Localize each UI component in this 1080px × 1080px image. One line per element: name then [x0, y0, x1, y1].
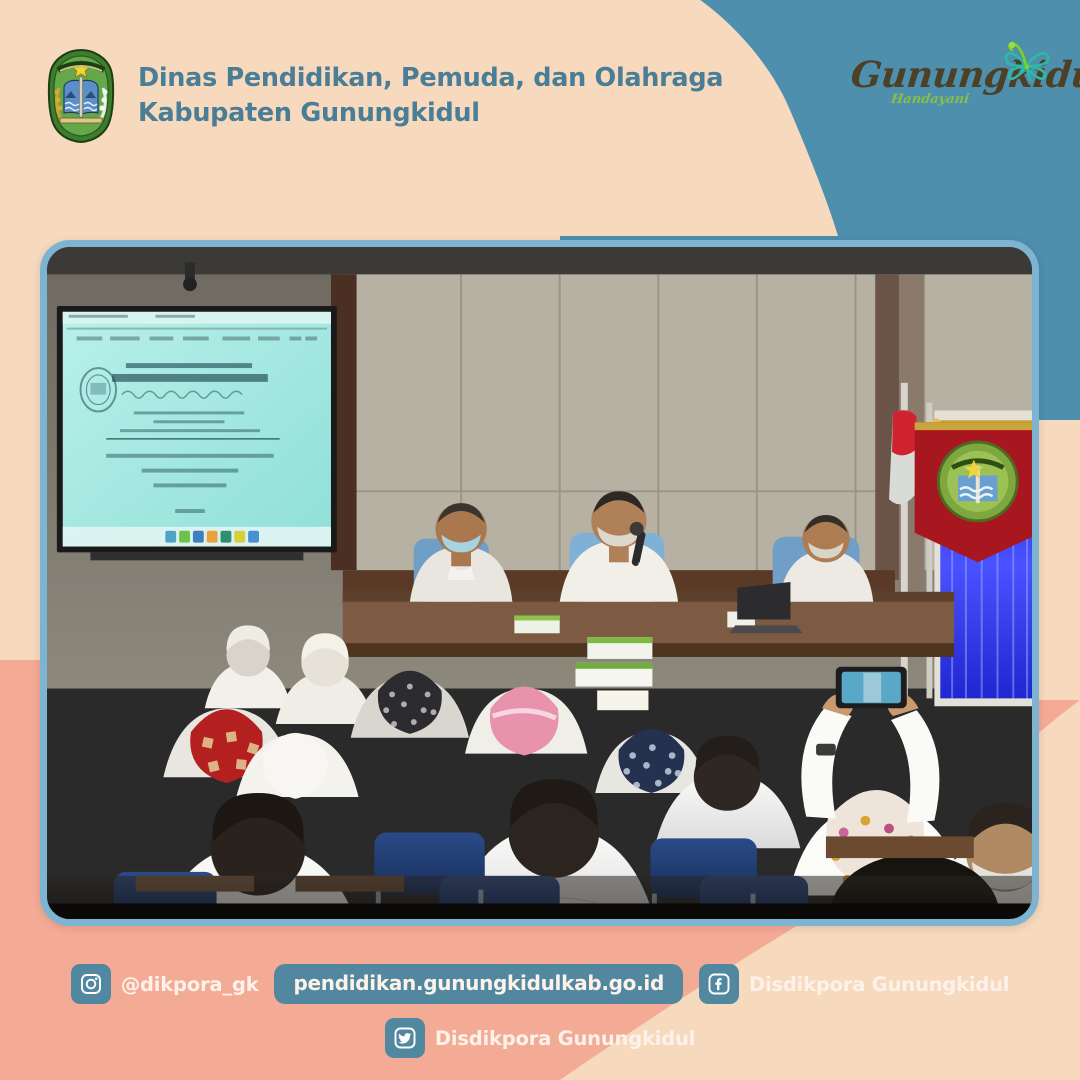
website-url-button[interactable]: pendidikan.gunungkidulkab.go.id	[274, 964, 683, 1004]
twitter-handle[interactable]: Disdikpora Gunungkidul	[385, 1018, 695, 1058]
gunungkidul-brand-logo: Gunungkidul Handayani	[843, 40, 1058, 120]
poster-footer: @dikpora_gk pendidikan.gunungkidulkab.go…	[0, 964, 1080, 1058]
gunungkidul-coat-of-arms-icon	[44, 48, 118, 144]
instagram-handle[interactable]: @dikpora_gk	[71, 964, 259, 1004]
facebook-handle[interactable]: Disdikpora Gunungkidul	[699, 964, 1009, 1004]
butterfly-icon	[996, 36, 1056, 92]
org-title-line2: Kabupaten Gunungkidul	[138, 98, 723, 129]
brand-tagline: Handayani	[890, 92, 970, 107]
footer-row-secondary: Disdikpora Gunungkidul	[0, 1018, 1080, 1058]
page-title: Dinas Pendidikan, Pemuda, dan Olahraga K…	[138, 63, 723, 128]
seminar-room-photograph	[47, 247, 1032, 919]
org-title-line1: Dinas Pendidikan, Pemuda, dan Olahraga	[138, 63, 723, 94]
twitter-label: Disdikpora Gunungkidul	[435, 1027, 695, 1050]
poster-header: Dinas Pendidikan, Pemuda, dan Olahraga K…	[44, 48, 723, 144]
seminar-photo-frame	[40, 240, 1039, 926]
footer-row-primary: @dikpora_gk pendidikan.gunungkidulkab.go…	[0, 964, 1080, 1004]
facebook-icon[interactable]	[699, 964, 739, 1004]
instagram-label: @dikpora_gk	[121, 973, 259, 996]
instagram-icon[interactable]	[71, 964, 111, 1004]
twitter-icon[interactable]	[385, 1018, 425, 1058]
facebook-label: Disdikpora Gunungkidul	[749, 973, 1009, 996]
social-media-poster: Dinas Pendidikan, Pemuda, dan Olahraga K…	[0, 0, 1080, 1080]
